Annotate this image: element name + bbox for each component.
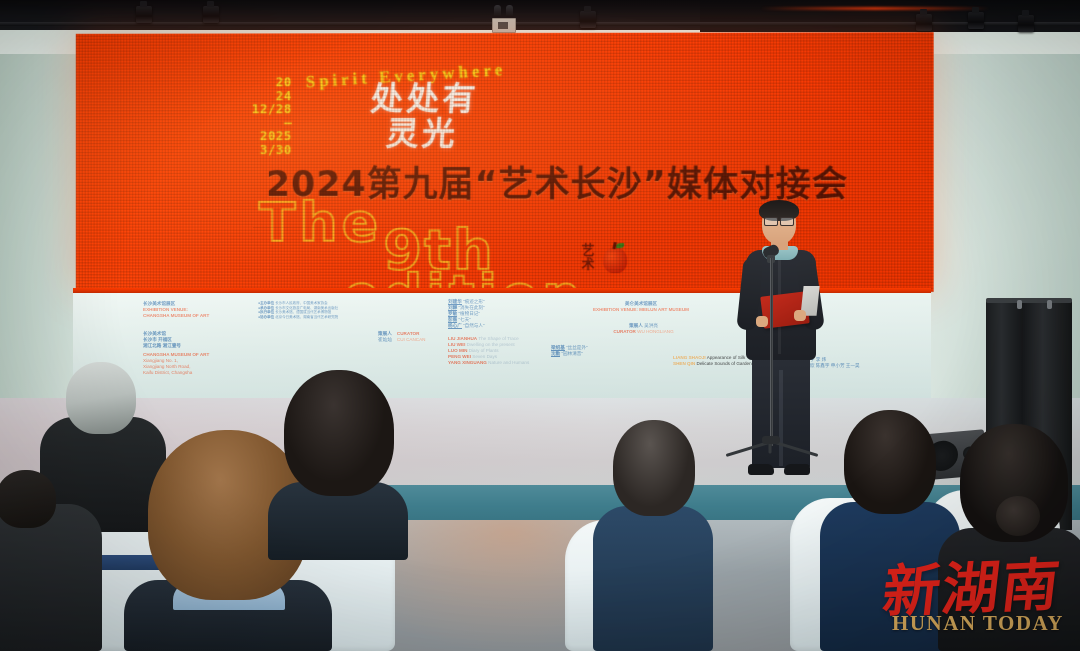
artist-name-en: LIU WEI bbox=[448, 342, 465, 347]
audience-person bbox=[0, 470, 102, 651]
presenter-hand-right bbox=[794, 310, 806, 321]
hair-bun bbox=[996, 496, 1040, 536]
curator-left-en-label: CURATOR bbox=[397, 331, 420, 336]
organizer-label: ●协办单位 bbox=[258, 315, 274, 319]
curator-right-cn-name: 吴洪亮 bbox=[644, 323, 658, 328]
audience-person-head bbox=[844, 410, 936, 514]
audience-person bbox=[268, 370, 408, 560]
artist-row: 杨心广 “自然与人” bbox=[448, 323, 588, 329]
date-end: 3/30 bbox=[222, 143, 291, 156]
artist-work-cn: “园林清音” bbox=[561, 351, 582, 356]
watermark-english: HUNAN TODAY bbox=[890, 611, 1066, 636]
presenter-shoe-left bbox=[748, 464, 774, 475]
organizer-value: 北京今日美术馆、湖南省当代艺术研究院 bbox=[275, 315, 338, 319]
artist-name-en: SHEN QIN bbox=[673, 361, 695, 366]
presenter-person bbox=[726, 198, 834, 498]
presenter-hand-left bbox=[756, 316, 768, 327]
curtain-rod bbox=[986, 298, 1072, 303]
logo-char-bottom: 术 bbox=[578, 257, 598, 271]
organizer-value: 长沙市人民政府、中国美术家协会 bbox=[275, 301, 328, 305]
organizer-label: ●执行单位 bbox=[258, 310, 274, 314]
ceiling-spotlight-icon bbox=[203, 6, 219, 23]
audience-person-head bbox=[613, 420, 695, 516]
hunan-today-watermark: 新湖南 HUNAN TODAY bbox=[884, 543, 1066, 643]
organizer-row: ●协办单位 北京今日美术馆、湖南省当代艺术研究院 bbox=[258, 315, 388, 320]
artist-work-en: Dwelling on the present bbox=[467, 342, 515, 347]
art-changsha-logo: 艺 术 bbox=[578, 241, 630, 281]
ceiling-small-fixture-icon bbox=[506, 5, 513, 17]
tagline-cn-line2: 灵光 bbox=[385, 116, 477, 151]
ceiling-red-glow bbox=[760, 7, 990, 10]
ceiling-spotlight-icon bbox=[916, 14, 932, 31]
artist-row: 沈勤 “园林清音” bbox=[551, 351, 666, 357]
venue-right-block: 美仑美术馆展区 EXHIBITION VENUE: MEILUN ART MUS… bbox=[551, 301, 731, 313]
artist-work-cn: “植物日记” bbox=[458, 311, 479, 316]
artist-work-en: Nature and Humans bbox=[488, 360, 529, 365]
curator-right-en-name: WU HONGLIANG bbox=[637, 329, 674, 334]
venue-right-en: EXHIBITION VENUE: MEILUN ART MUSEUM bbox=[551, 307, 731, 313]
audience-person bbox=[593, 420, 713, 651]
ceiling-plate bbox=[492, 18, 516, 33]
curtain-hook-icon bbox=[1047, 300, 1052, 309]
curator-right-line2: CURATOR WU HONGLIANG bbox=[571, 329, 716, 335]
curator-left-cn-name: 崔灿灿 bbox=[378, 337, 392, 342]
audience-person-head bbox=[0, 470, 56, 528]
artist-work-cn: “丝丝是外” bbox=[566, 345, 587, 350]
artist-work-cn: “自然与人” bbox=[463, 323, 484, 328]
artist-name-en: PENG WEI bbox=[448, 354, 471, 359]
artist-row-en: YANG XINGUANG Nature and Humans bbox=[448, 360, 603, 366]
artist-name-en: YANG XINGUANG bbox=[448, 360, 487, 365]
artist-work-en: Seven Days bbox=[472, 354, 497, 359]
curator-left-en-name: CUI CANCAN bbox=[397, 337, 426, 342]
organizer-value: 长沙市文化旅游广电局、湖南美术出版社 bbox=[275, 306, 338, 310]
date-start: 12/28 bbox=[222, 102, 291, 116]
date-year-end: 2025 bbox=[222, 129, 291, 142]
ceiling-spotlight-icon bbox=[968, 12, 984, 29]
artists-right-cn-list: 梁绍基 “丝丝是外” 沈勤 “园林清音” bbox=[551, 345, 666, 357]
screenshot-root: The 9th edition Spirit Everywhere 20 24 … bbox=[0, 0, 1080, 651]
date-year-start-top: 20 bbox=[222, 75, 291, 89]
organizer-label: ●主办单位 bbox=[258, 301, 274, 305]
logo-char-top: 艺 bbox=[578, 243, 598, 257]
led-tagline-chinese: 处处有 灵光 bbox=[367, 81, 480, 151]
curator-right-cn-label: 策展人 bbox=[629, 323, 643, 328]
artist-name-cn: 杨心广 bbox=[448, 323, 462, 329]
audience-person-body bbox=[593, 506, 713, 651]
organizer-value: 长沙美术馆、谭国斌当代艺术博物馆 bbox=[275, 310, 331, 314]
artist-work-cn: “痕迹之形” bbox=[463, 299, 484, 304]
artist-name-en: LIANG SHAOJI bbox=[673, 355, 706, 360]
curator-left-cn-label: 策展人 bbox=[378, 331, 392, 336]
apple-icon bbox=[603, 247, 627, 273]
glasses-icon bbox=[764, 217, 794, 224]
artist-name-cn: 沈勤 bbox=[551, 351, 560, 357]
ceiling-small-fixture-icon bbox=[494, 5, 501, 17]
microphone-stand-pole bbox=[770, 258, 773, 446]
curtain-hook-icon bbox=[1017, 300, 1022, 309]
audience-person-head bbox=[66, 362, 136, 434]
artist-name-en: LIU JIANHUA bbox=[448, 336, 477, 341]
artist-work-cn: “消失在此刻” bbox=[458, 305, 484, 310]
curator-right-en-label: CURATOR bbox=[613, 329, 636, 334]
presenter-shoe-right bbox=[784, 464, 810, 475]
venue-left-en-name: CHANGSHA MUSEUM OF ART bbox=[143, 313, 248, 319]
date-separator: — bbox=[222, 116, 291, 129]
artist-work-cn: “七天” bbox=[458, 317, 470, 322]
ceiling-spotlight-icon bbox=[136, 6, 152, 23]
tagline-cn-line1: 处处有 bbox=[369, 79, 479, 118]
microphone-stand-base bbox=[762, 436, 780, 444]
organizer-label: ●承办单位 bbox=[258, 306, 274, 310]
artist-work-en: The Shape of Trace bbox=[478, 336, 518, 341]
ceiling-spotlight-icon bbox=[580, 11, 596, 28]
artist-work-en: Diary of Plants bbox=[469, 348, 499, 353]
organizer-list: ●主办单位 长沙市人民政府、中国美术家协会 ●承办单位 长沙市文化旅游广电局、湖… bbox=[258, 301, 388, 319]
led-exhibition-dates: 20 24 12/28 — 2025 3/30 bbox=[222, 75, 291, 156]
audience-person-head bbox=[284, 370, 394, 496]
curator-right-block: 策展人 吴洪亮 CURATOR WU HONGLIANG bbox=[571, 323, 716, 335]
ceiling-spotlight-icon bbox=[1018, 15, 1034, 32]
artist-name-en: LUO MIN bbox=[448, 348, 467, 353]
venue-left-block: 长沙美术馆展区 EXHIBITION VENUE: CHANGSHA MUSEU… bbox=[143, 301, 248, 319]
